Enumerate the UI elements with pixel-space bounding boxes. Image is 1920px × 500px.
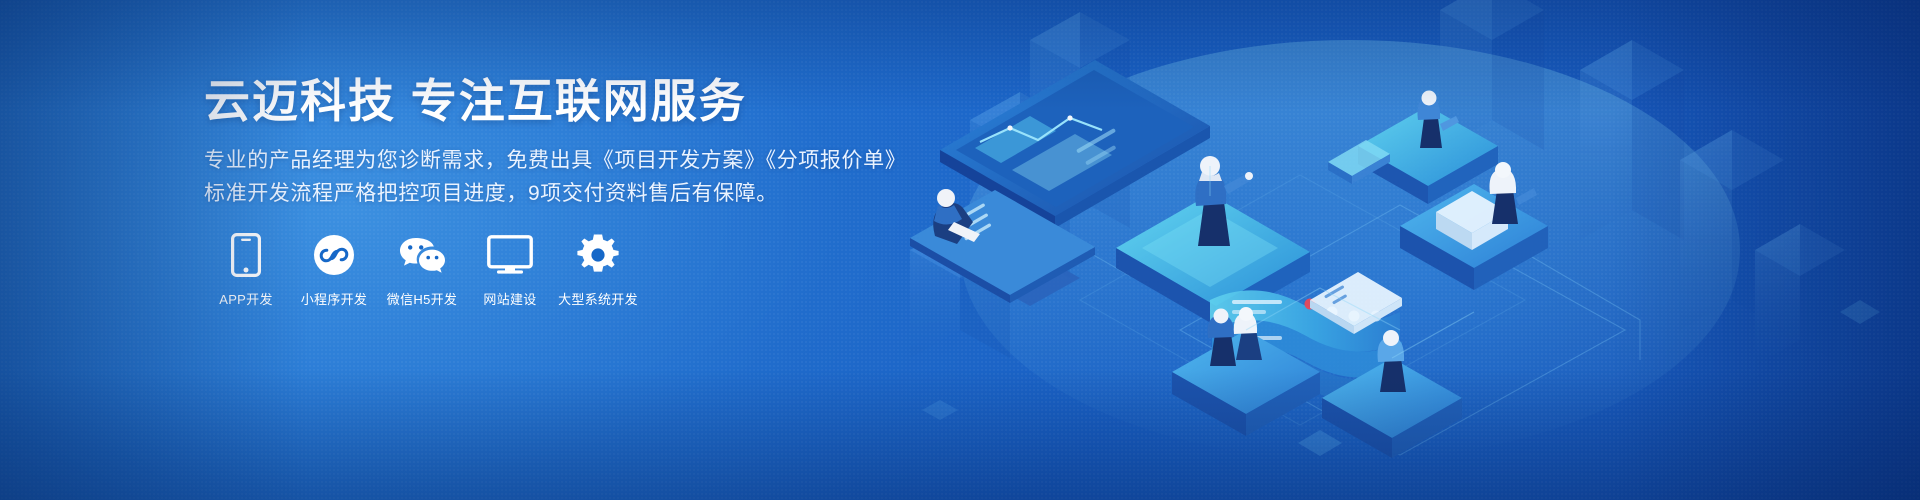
service-label: 小程序开发 [301, 289, 368, 308]
central-pedestal [1116, 194, 1310, 326]
service-label: 网站建设 [483, 289, 536, 308]
service-label: 微信H5开发 [387, 289, 457, 308]
right-platform-lower [1322, 358, 1462, 458]
hero-banner: 云迈科技 专注互联网服务 专业的产品经理为您诊断需求，免费出具《项目开发方案》《… [0, 0, 1920, 500]
hero-subtitle-line-2: 标准开发流程严格把控项目进度，9项交付资料售后有保障。 [204, 178, 778, 211]
person-pair-lower-left [1208, 307, 1263, 366]
right-platform-mid [1400, 184, 1548, 290]
person-right-mid [1490, 162, 1538, 224]
left-platform-lower [1172, 330, 1320, 436]
page-title: 云迈科技 专注互联网服务 [204, 74, 747, 129]
mobile-phone-icon [231, 232, 261, 278]
person-lower-right [1378, 330, 1407, 392]
service-item-website[interactable]: 网站建设 [474, 232, 546, 308]
iso-grid [1050, 175, 1640, 455]
monitor-icon [487, 232, 533, 278]
hero-subtitle-line-1: 专业的产品经理为您诊断需求，免费出具《项目开发方案》《分项报价单》 [204, 145, 906, 178]
person-right-upper [1417, 91, 1459, 149]
wechat-icon [398, 232, 446, 278]
service-item-app[interactable]: APP开发 [210, 232, 282, 308]
floating-card-ui [1310, 272, 1402, 334]
mini-program-icon [313, 232, 355, 278]
service-label: 大型系统开发 [558, 289, 638, 308]
service-item-large-system[interactable]: 大型系统开发 [562, 232, 634, 308]
floating-card-small [1328, 140, 1390, 184]
service-list: APP开发 小程序开发 [210, 232, 634, 308]
person-standing-center [1195, 156, 1253, 246]
right-platform-upper [1358, 106, 1498, 204]
service-label: APP开发 [219, 289, 273, 308]
data-ribbon [1210, 290, 1404, 403]
service-item-wechat-h5[interactable]: 微信H5开发 [386, 232, 458, 308]
hero-content: 云迈科技 专注互联网服务 专业的产品经理为您诊断需求，免费出具《项目开发方案》《… [204, 0, 1104, 500]
gear-icon [576, 232, 620, 278]
service-item-mini-program[interactable]: 小程序开发 [298, 232, 370, 308]
